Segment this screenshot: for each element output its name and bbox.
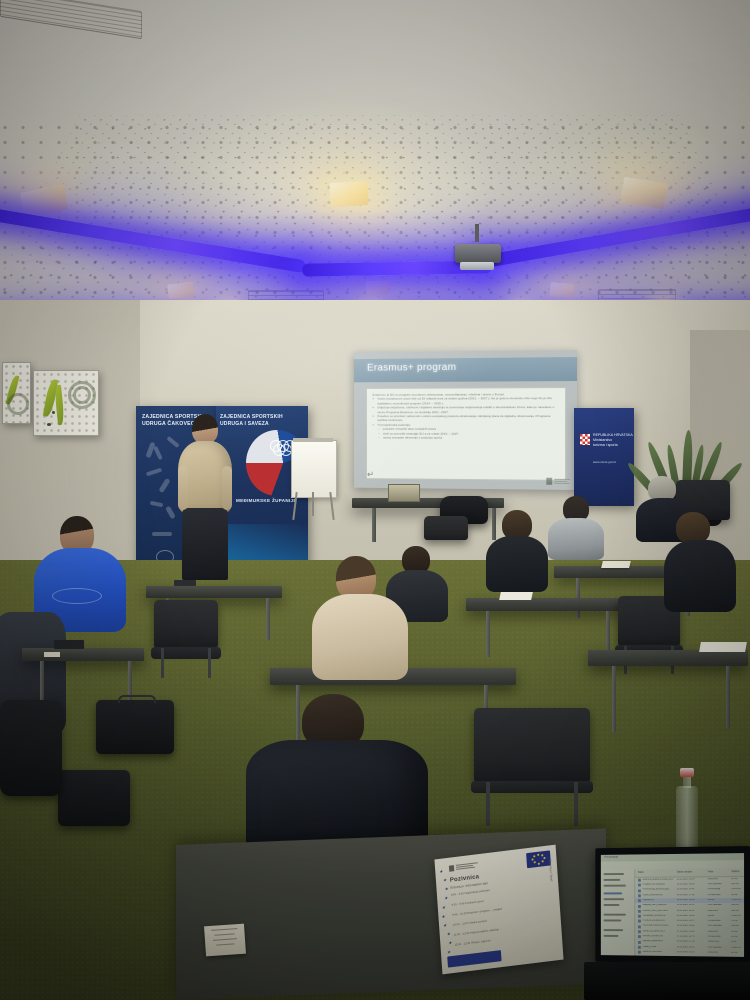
document-crest — [449, 862, 478, 872]
file-cell: Prezentacija_Erasmus.pptx — [643, 889, 675, 891]
table-right-side — [466, 598, 622, 611]
flipchart-easel — [291, 440, 335, 518]
table-leg — [266, 598, 270, 640]
file-cell: Erasmus_prijava_obrazac.docx — [643, 878, 675, 880]
attendee-black-jacket-right — [486, 510, 548, 590]
document-row: 9:30 – 9:45 Pozdravni govor — [452, 900, 484, 907]
file-cell: Dokument — [708, 878, 729, 880]
document-row: 9:45 – 10:30 Erasmus+ program — pregled — [452, 908, 502, 917]
file-cell: Proračunska — [708, 920, 729, 922]
slide-bullet: razvoj europske dimenzije u području spo… — [373, 436, 560, 441]
file-cell: 09.11.2023. 10:12 — [677, 915, 706, 917]
file-icon — [638, 920, 641, 923]
banner-right-line2: Ministarstvo — [593, 438, 612, 442]
file-cell: 8 640 KB — [731, 915, 744, 917]
equipment-case — [388, 484, 420, 502]
file-icon — [638, 930, 641, 933]
file-cell: 34 KB — [731, 936, 744, 938]
file-cell: 10.11.2023. 11:55 — [677, 904, 706, 906]
seminar-room-photo: Erasmus+ program Erasmus+ je EU-ov progr… — [0, 0, 750, 1000]
file-cell: 05.11.2023. 10:05 — [677, 951, 706, 953]
document-row: 9:00 – 9:30 Registracija sudionika — [451, 889, 490, 897]
column-header: Naziv — [638, 871, 644, 874]
file-cell: 08.11.2023. 13:47 — [677, 920, 706, 922]
table-leg — [372, 508, 376, 542]
croatian-checkerboard-icon — [580, 434, 590, 445]
presenter — [176, 414, 234, 580]
phone-on-table — [174, 580, 196, 586]
file-icon — [638, 946, 641, 949]
file-icon — [638, 925, 641, 928]
file-icon — [638, 894, 641, 897]
document-side-text: Erasmus+ Sport — [549, 860, 554, 882]
document-row: 12:00 – 12:30 Pitanja i odgovori — [454, 939, 490, 947]
file-cell: Natjecaj_2024_uvjeti.pdf — [643, 904, 675, 906]
projector-icon — [455, 238, 501, 272]
banner-right-line1: REPUBLIKA HRVATSKA — [593, 433, 633, 437]
abstract-canvas-left — [2, 362, 31, 424]
file-cell: PDF datoteka — [708, 904, 729, 906]
slide-body: Erasmus+ je EU-ov program za potporu obr… — [366, 387, 566, 481]
file-cell: Proracun_projekta.xlsx — [643, 920, 675, 922]
file-icon — [638, 905, 641, 908]
file-icon — [638, 935, 641, 938]
file-cell: Prezentacija — [708, 888, 729, 890]
table-leg — [726, 666, 730, 728]
laptop-screen[interactable]: Preuzimanja Naziv Datum izmjene Vrsta Ve… — [601, 853, 744, 957]
explorer-file-row[interactable]: Zapisnik_2023.docx05.11.2023. 10:05Dokum… — [635, 950, 744, 956]
slide-title: Erasmus+ program — [367, 361, 456, 373]
column-header: Veličina — [731, 870, 739, 873]
file-cell: 92 KB — [731, 952, 744, 954]
slide-bullet: Uključuje uključivost, održivost i digit… — [373, 405, 560, 414]
explorer-nav-pane[interactable] — [601, 869, 635, 955]
file-cell: Izvjesce_2023_sport.docx — [643, 909, 675, 911]
paper-note — [44, 652, 60, 657]
table-leg — [486, 611, 490, 657]
table-front-left — [22, 648, 144, 661]
file-cell: Arhiva — [708, 915, 729, 917]
explorer-window-title: Preuzimanja — [605, 856, 618, 859]
file-cell: Popis_sudionika.xlsx — [643, 894, 675, 896]
column-header: Vrsta — [708, 870, 713, 873]
file-cell: 84 KB — [731, 878, 744, 880]
table-leg — [606, 611, 610, 655]
file-cell: Fotografije_dvorana.zip — [643, 915, 675, 917]
attendee-grey-hoodie-rear — [548, 496, 604, 558]
table-leg — [612, 666, 616, 732]
file-cell: 190 KB — [731, 925, 744, 927]
chair-empty-front-left — [154, 600, 218, 648]
printed-program-document: ★★★ ★★★ ★★★ ★ Pozivnica Erasmus+ informa… — [434, 845, 563, 975]
notebook-on-table — [499, 592, 533, 600]
file-icon — [638, 915, 641, 918]
file-cell: 72 KB — [731, 920, 744, 922]
file-cell: Arhiva — [708, 899, 729, 901]
file-cell: 07.11.2023. 15:03 — [677, 930, 706, 932]
file-cell: 58 KB — [731, 931, 744, 933]
document-row: 10:30 – 11:00 Stanka za kavu — [453, 920, 487, 928]
banner-ministarstvo-turizma-i-sporta: REPUBLIKA HRVATSKA Ministarstvo turizma … — [574, 408, 634, 506]
file-cell: Program_seminara.pdf — [643, 883, 675, 885]
file-cell: 126 KB — [731, 910, 744, 912]
notebook-on-table — [699, 642, 747, 652]
projection-screen: Erasmus+ program Erasmus+ je EU-ov progr… — [354, 350, 577, 490]
file-cell: Dokument — [708, 951, 729, 953]
file-cell: 10.11.2023. 14:08 — [677, 899, 706, 901]
paper-sheet — [601, 561, 631, 568]
file-cell: Plakat_A3.pdf — [643, 946, 675, 948]
file-cell: PDF datoteka — [708, 883, 729, 885]
file-cell: 1 102 KB — [731, 899, 744, 901]
file-cell: Upute_za_prijavu.docx — [643, 930, 675, 932]
attendee-right-front — [664, 512, 736, 610]
file-icon — [638, 941, 641, 944]
file-icon — [638, 910, 641, 913]
file-cell: 11.11.2023. 18:40 — [677, 889, 706, 891]
file-icon — [638, 951, 641, 954]
chair-behind-front-table — [424, 516, 468, 540]
water-bottle — [676, 768, 698, 854]
laptop-bag-floor-a — [96, 700, 174, 754]
banner-right-line3: turizma i sporta — [593, 443, 618, 447]
file-cell: 1 480 KB — [731, 946, 744, 948]
file-icon — [638, 884, 641, 887]
file-cell: Tekstni dok. — [708, 941, 729, 943]
abstract-canvas-right — [33, 370, 99, 436]
file-cell: 12.11.2023. 09:14 — [677, 878, 706, 880]
slide-cursor-glyph: ↵ — [367, 469, 374, 480]
file-cell: 06.11.2023. 11:16 — [677, 946, 706, 948]
file-cell: Logotipi.zip — [643, 899, 675, 901]
file-icon — [638, 899, 641, 902]
file-cell: 212 KB — [731, 883, 744, 885]
document-row: 11:00 – 12:00 Prijava projekta, natječaj… — [454, 928, 499, 937]
file-cell: Proračunska — [708, 936, 729, 938]
explorer-file-row[interactable]: Logotipi.zip10.11.2023. 14:08Arhiva1 102… — [635, 898, 744, 903]
file-cell: Dokument — [708, 931, 729, 933]
file-cell: 46 KB — [731, 894, 744, 896]
name-card-on-table — [204, 924, 246, 957]
jacket-on-chair-left — [0, 700, 62, 796]
laptop-lid: Preuzimanja Naziv Datum izmjene Vrsta Ve… — [595, 846, 750, 964]
attendee-cream-hoodie-center — [312, 556, 408, 676]
slide-bullet: Većim proračunom unosi više od 26 milija… — [373, 396, 560, 405]
phone-on-table — [54, 640, 84, 649]
file-cell: Pozivnica_sudionicima.pdf — [643, 925, 675, 927]
file-cell: Zapisnik_2023.docx — [643, 951, 675, 953]
file-cell: 08.11.2023. 09:20 — [677, 925, 706, 927]
table-mid-left — [146, 586, 282, 598]
file-cell: 11.11.2023. 17:22 — [677, 894, 706, 896]
laptop-file-explorer[interactable]: Preuzimanja Naziv Datum izmjene Vrsta Ve… — [588, 846, 750, 1000]
file-cell: PDF datoteka — [708, 925, 729, 927]
file-cell: 3 214 KB — [731, 888, 744, 890]
file-cell: 09.11.2023. 16:31 — [677, 910, 706, 912]
file-cell: PDF datoteka — [708, 946, 729, 948]
file-icon — [638, 889, 641, 892]
file-cell: Biljeske_sastanak.txt — [643, 940, 675, 942]
file-cell: Dokument — [708, 910, 729, 912]
file-cell: 07.11.2023. 12:40 — [677, 936, 706, 938]
file-cell: 508 KB — [731, 904, 744, 906]
file-cell: 12.11.2023. 09:02 — [677, 883, 706, 885]
ministry-crest-logo — [546, 478, 570, 485]
file-cell: 6 KB — [731, 941, 744, 943]
table-right-rear — [588, 650, 748, 666]
column-header: Datum izmjene — [677, 870, 692, 873]
file-icon — [638, 879, 641, 882]
file-cell: Partneri_kontakti.xlsx — [643, 935, 675, 937]
chair-empty-center — [474, 708, 590, 782]
file-cell: 06.11.2023. 17:58 — [677, 941, 706, 943]
laptop-bag-floor-b — [58, 770, 130, 826]
laptop-base — [584, 962, 750, 1000]
file-cell: Proračunska — [708, 894, 729, 896]
slide-bullet: Posebno se prioriteti i aktivnosti u okv… — [373, 414, 560, 423]
